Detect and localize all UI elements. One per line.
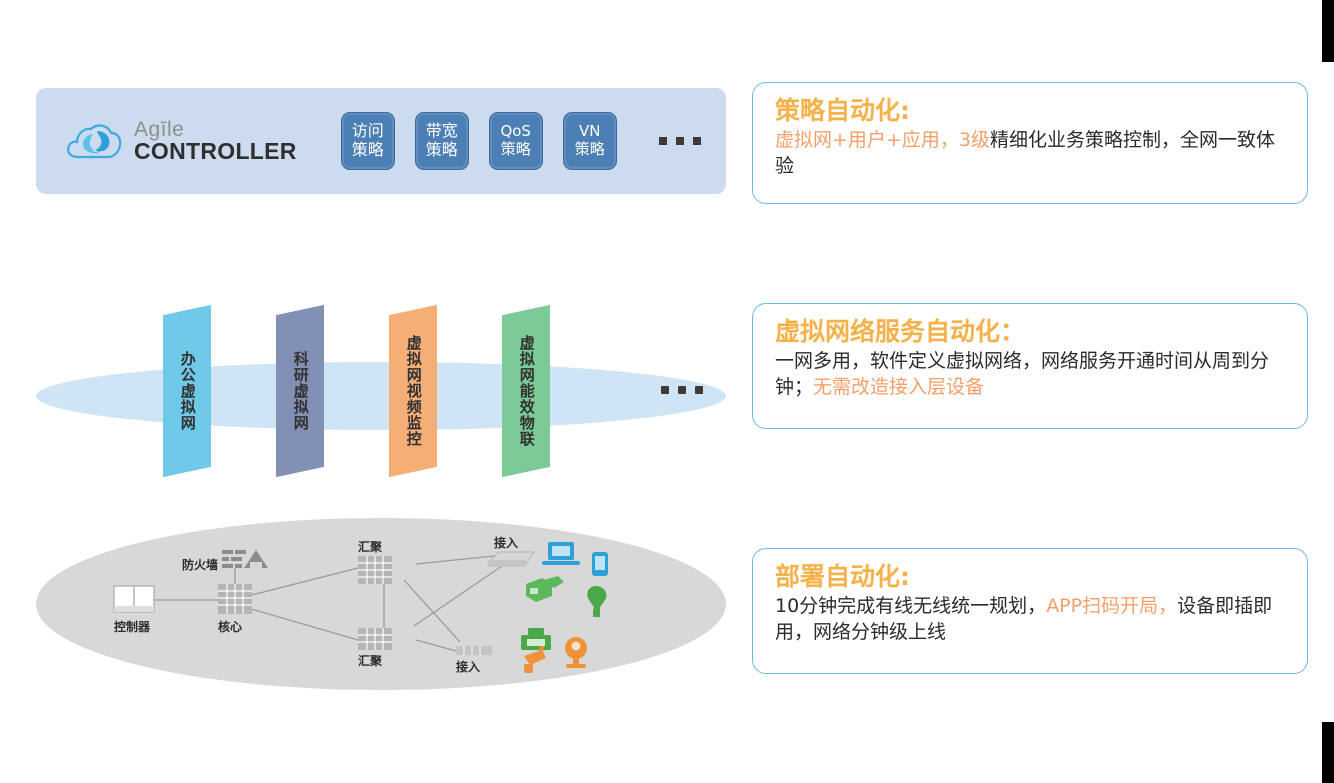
card-body-highlight: APP扫码开局，: [1046, 595, 1177, 617]
policy-button-group: 访问 策略 带宽 策略 QoS 策略 VN 策略: [341, 112, 701, 170]
policy-label-line2: 策略: [426, 141, 458, 160]
policy-more-ellipsis-icon[interactable]: [659, 137, 701, 145]
lamp-icon: [587, 586, 606, 617]
aggregation-switch-bottom-device-icon: [358, 628, 392, 650]
vn-plane-label: 视频监控: [404, 383, 423, 447]
card-body: 一网多用，软件定义虚拟网络，网络服务开通时间从周到分钟；无需改造接入层设备: [775, 348, 1287, 400]
card-body-highlight: 虚拟网+用户+应用，3级: [775, 129, 990, 151]
brand-controller-text: CONTROLLER: [134, 140, 297, 163]
vn-plane-energy-iot[interactable]: 虚拟网 能效物联: [502, 305, 550, 477]
access-switch-bottom-device-icon: [456, 646, 492, 655]
policy-button-qos[interactable]: QoS 策略: [489, 112, 543, 170]
access-switch-top-device-icon: [488, 552, 534, 567]
vn-plane-label: 办公虚拟网: [178, 351, 197, 431]
laptop-icon: [542, 542, 580, 565]
agile-controller-logo: Agīle CONTROLLER: [64, 117, 297, 165]
card-body-plain: 10分钟完成有线无线统一规划，: [775, 595, 1046, 617]
policy-label-line2: 策略: [575, 141, 605, 159]
sensor-orange-icon: [524, 646, 546, 673]
slide-canvas: Agīle CONTROLLER 访问 策略 带宽 策略 QoS 策略 VN 策…: [0, 0, 1334, 783]
vn-plane-label: 科研虚拟网: [291, 351, 310, 431]
policy-label-line1: 带宽: [426, 122, 458, 141]
topology-label-firewall: 防火墙: [182, 556, 218, 573]
policy-button-bandwidth[interactable]: 带宽 策略: [415, 112, 469, 170]
firewall-device-icon: [222, 550, 268, 568]
right-edge-bar-bottom: [1322, 722, 1334, 783]
card-body: 虚拟网+用户+应用，3级精细化业务策略控制，全网一致体验: [775, 127, 1287, 179]
card-title: 虚拟网络服务自动化：: [775, 318, 1287, 346]
vn-plane-video-surveillance[interactable]: 虚拟网 视频监控: [389, 305, 437, 477]
topology-label-access-top: 接入: [494, 534, 518, 551]
camera-green-icon: [526, 576, 564, 602]
vn-plane-label-2: 虚拟网: [404, 335, 423, 383]
vn-plane-label-2: 虚拟网: [517, 335, 536, 383]
vn-plane-research[interactable]: 科研虚拟网: [276, 305, 324, 477]
virtual-network-planes-group: 办公虚拟网 科研虚拟网 虚拟网 视频监控 虚拟网 能效物联: [36, 300, 726, 495]
brand-agile-text: Agīle: [134, 119, 297, 140]
topology-label-agg-top: 汇聚: [358, 538, 382, 555]
printer-icon: [521, 628, 551, 650]
tablet-icon: [592, 552, 608, 576]
card-body-highlight: 无需改造接入层设备: [813, 376, 984, 398]
topology-label-access-bottom: 接入: [456, 658, 480, 675]
card-body: 10分钟完成有线无线统一规划，APP扫码开局，设备即插即用，网络分钟级上线: [775, 593, 1287, 645]
network-topology-diagram: 控制器 防火墙 核心 汇聚 汇聚 接入 接入: [36, 518, 726, 690]
policy-label-line1: VN: [579, 123, 600, 141]
card-policy-automation: 策略自动化: 虚拟网+用户+应用，3级精细化业务策略控制，全网一致体验: [752, 82, 1308, 204]
vn-plane-label: 能效物联: [517, 383, 536, 447]
aggregation-switch-top-device-icon: [358, 556, 392, 584]
policy-button-vn[interactable]: VN 策略: [563, 112, 617, 170]
vn-plane-office[interactable]: 办公虚拟网: [163, 305, 211, 477]
core-switch-device-icon: [218, 568, 252, 614]
agile-cloud-icon: [64, 117, 124, 165]
topology-label-core: 核心: [218, 618, 242, 635]
vn-more-ellipsis-icon[interactable]: [661, 386, 703, 394]
card-deployment-automation: 部署自动化: 10分钟完成有线无线统一规划，APP扫码开局，设备即插即用，网络分…: [752, 548, 1308, 674]
policy-label-line2: 策略: [352, 141, 384, 160]
camera-orange-icon: [565, 637, 587, 668]
card-title: 部署自动化:: [775, 563, 1287, 591]
topology-label-agg-bottom: 汇聚: [358, 652, 382, 669]
topology-label-controller: 控制器: [114, 618, 150, 635]
card-title: 策略自动化:: [775, 97, 1287, 125]
policy-label-line1: QoS: [500, 123, 531, 141]
virtual-network-backdrop-ellipse: [36, 362, 726, 430]
right-edge-bar-top: [1322, 0, 1334, 62]
policy-label-line1: 访问: [352, 122, 384, 141]
policy-label-line2: 策略: [501, 141, 531, 159]
controller-device-icon: [114, 586, 154, 612]
agile-controller-bar: Agīle CONTROLLER 访问 策略 带宽 策略 QoS 策略 VN 策…: [36, 88, 726, 194]
policy-button-access[interactable]: 访问 策略: [341, 112, 395, 170]
card-virtual-network-service-automation: 虚拟网络服务自动化： 一网多用，软件定义虚拟网络，网络服务开通时间从周到分钟；无…: [752, 303, 1308, 429]
